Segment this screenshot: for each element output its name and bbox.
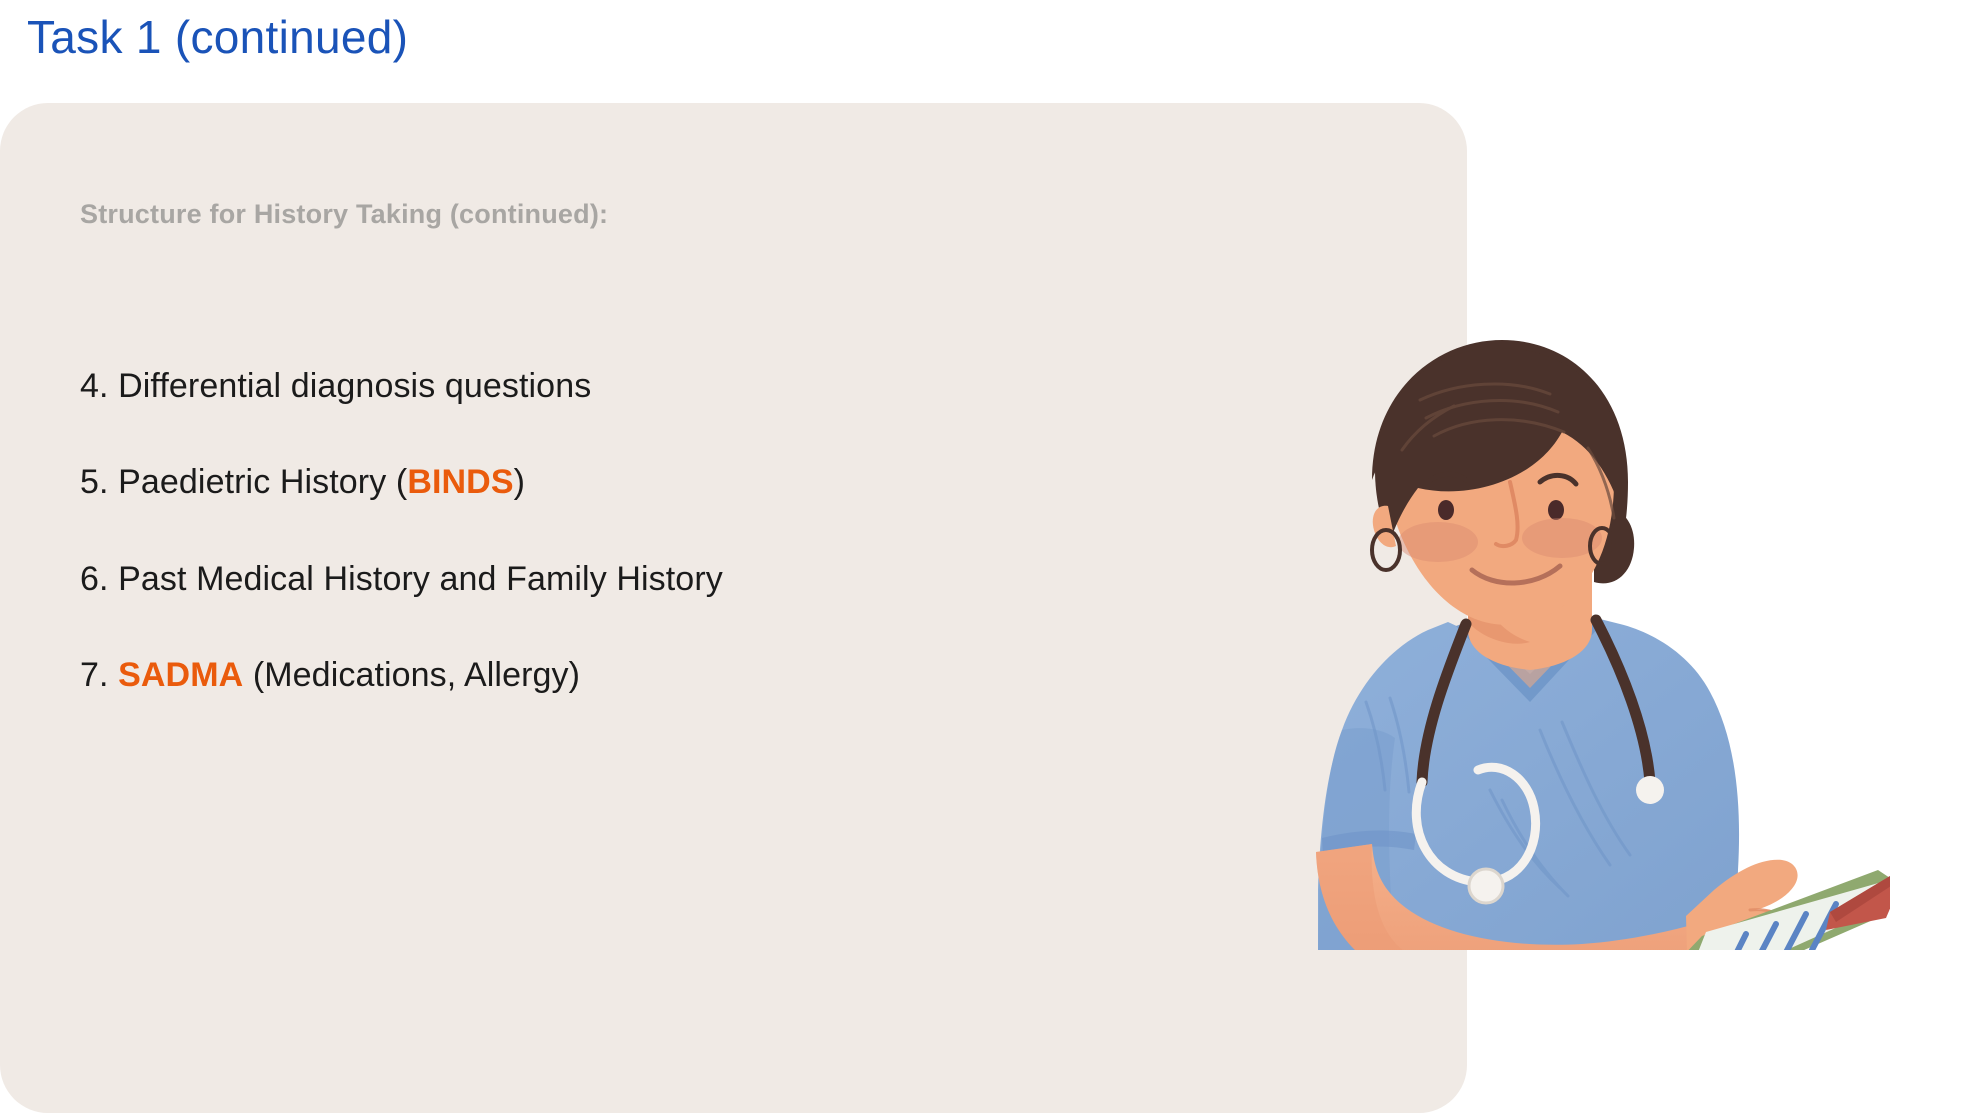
list-item-highlight: BINDS [407,463,513,501]
mouth [1472,566,1560,583]
list-item: 6. Past Medical History and Family Histo… [80,561,1180,598]
list-item-highlight: SADMA [118,656,243,694]
list-item-text [109,656,119,694]
list-item-text-after: (Medications, Allergy) [243,656,580,694]
list-item: 5. Paedietric History (BINDS) [80,464,1180,501]
clipboard-paper [1680,882,1882,950]
neck-shape [1468,558,1592,670]
list-item-text: Past Medical History and Family History [109,560,723,598]
list-item-text: Paedietric History ( [109,463,408,501]
list-item: 4. Differential diagnosis questions [80,368,1180,405]
clipboard-lines [1722,904,1836,950]
history-taking-list: 4. Differential diagnosis questions 5. P… [80,368,1180,695]
card-subtitle: Structure for History Taking (continued)… [80,199,608,230]
list-item-number: 6. [80,560,109,598]
clipboard-clip [1826,876,1890,930]
list-item-number: 5. [80,463,109,501]
list-item-text-after: ) [514,463,525,501]
page-title: Task 1 (continued) [27,10,408,64]
earring-right [1590,528,1614,564]
cheek-blush-right [1522,518,1602,558]
clipboard-clip-shadow [1830,876,1890,922]
hand-shape [1686,860,1798,950]
list-item-number: 7. [80,656,109,694]
clipboard-icon [1660,870,1890,950]
list-item-number: 4. [80,367,109,405]
eye-right [1548,500,1564,520]
stethoscope-chestpiece [1469,869,1503,903]
clipboard-edge [1660,870,1890,950]
stethoscope-earpiece [1636,776,1664,804]
eyebrow-right [1540,475,1576,484]
content-card: Structure for History Taking (continued)… [0,103,1467,1113]
list-item: 7. SADMA (Medications, Allergy) [80,657,1180,694]
nose [1496,482,1518,546]
list-item-text: Differential diagnosis questions [109,367,592,405]
